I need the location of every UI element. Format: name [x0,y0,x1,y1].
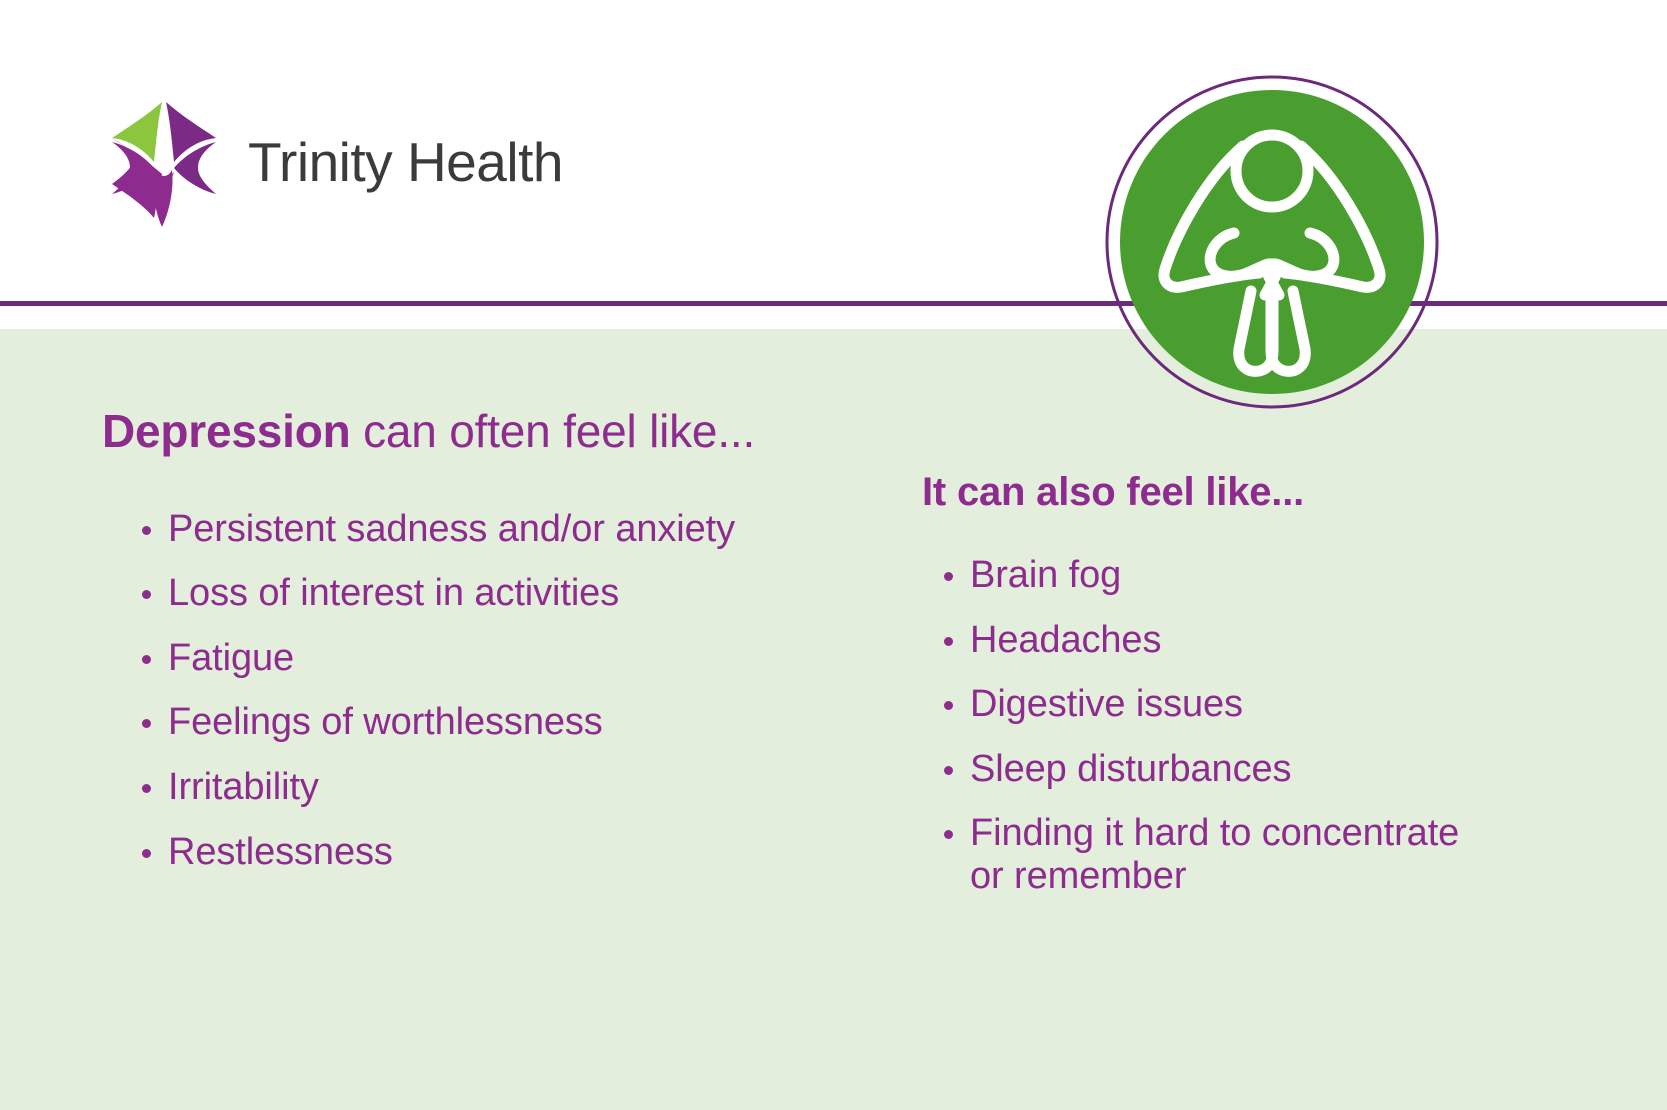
list-item: Headaches [922,619,1562,662]
list-item: Brain fog [922,554,1562,597]
list-item: Fatigue [102,637,882,680]
bullet-dot-icon [142,590,151,599]
left-symptom-column: Depression can often feel like... Persis… [102,402,882,895]
left-heading-emphasis: Depression [102,405,351,457]
list-item-label: Sleep disturbances [970,748,1291,791]
left-symptom-list: Persistent sadness and/or anxiety Loss o… [102,508,882,873]
bullet-dot-icon [142,655,151,664]
list-item: Digestive issues [922,683,1562,726]
left-heading-rest: can often feel like... [351,405,756,457]
list-item: Irritability [102,766,882,809]
list-item: Finding it hard to concentrate or rememb… [922,812,1562,897]
list-item-label: Loss of interest in activities [168,572,619,615]
list-item: Sleep disturbances [922,748,1562,791]
bullet-dot-icon [944,572,953,581]
list-item: Loss of interest in activities [102,572,882,615]
list-item: Persistent sadness and/or anxiety [102,508,882,551]
list-item-label: Brain fog [970,554,1121,597]
list-item-label: Irritability [168,766,319,809]
bullet-dot-icon [944,701,953,710]
left-column-heading: Depression can often feel like... [102,402,882,462]
right-column-heading: It can also feel like... [922,466,1562,518]
list-item-label: Finding it hard to concentrate or rememb… [970,812,1500,897]
brand-wordmark: Trinity Health [248,135,563,190]
list-item-label: Feelings of worthlessness [168,701,603,744]
depression-symptoms-infographic: Trinity Health Depres [0,0,1667,1110]
list-item: Feelings of worthlessness [102,701,882,744]
list-item-label: Digestive issues [970,683,1243,726]
right-symptom-list: Brain fog Headaches Digestive issues Sle… [922,554,1562,897]
trinity-health-cross-mark-icon [100,96,228,228]
list-item-label: Headaches [970,619,1161,662]
bullet-dot-icon [142,784,151,793]
right-symptom-column: It can also feel like... Brain fog Heada… [922,466,1562,919]
brand-logo: Trinity Health [100,96,563,228]
list-item: Restlessness [102,831,882,874]
bullet-dot-icon [142,849,151,858]
bullet-dot-icon [142,719,151,728]
bullet-dot-icon [944,830,953,839]
bullet-dot-icon [142,526,151,535]
list-item-label: Restlessness [168,831,393,874]
list-item-label: Fatigue [168,637,294,680]
person-hunched-depressed-icon [1103,73,1441,411]
bullet-dot-icon [944,637,953,646]
bullet-dot-icon [944,766,953,775]
list-item-label: Persistent sadness and/or anxiety [168,508,735,551]
